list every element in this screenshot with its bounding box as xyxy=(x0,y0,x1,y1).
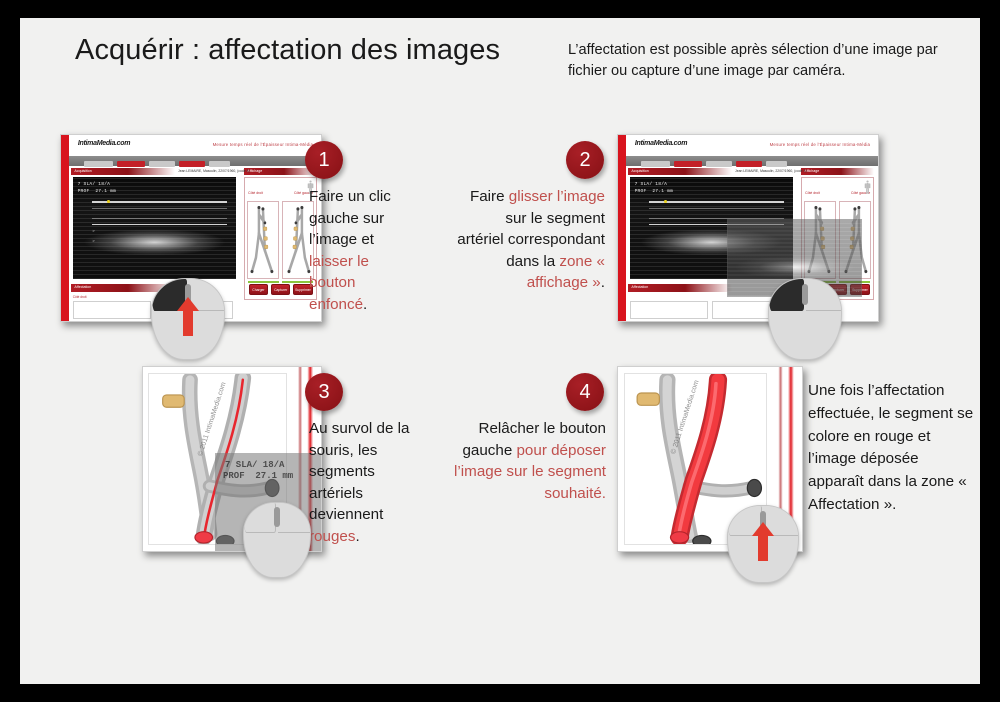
media-line xyxy=(649,208,783,209)
step1-part1: Faire un clic gauche sur l’image et xyxy=(309,188,391,248)
patient-info-label: Jean LEMAIRE, Masculin, 22/07/1960, (cod… xyxy=(178,169,250,173)
step-badge-3: 3 xyxy=(305,373,343,411)
mouse-right-button xyxy=(278,503,310,533)
step3-part2: . xyxy=(355,528,359,545)
page-title: Acquérir : affectation des images xyxy=(75,34,500,67)
panel-title-acquisition: Acquisition xyxy=(631,169,648,173)
panel-header-acquisition: Acquisition xyxy=(628,168,732,176)
mouse-icon-step4 xyxy=(727,505,799,583)
lumen-line xyxy=(92,224,226,225)
nav-item-patient[interactable] xyxy=(641,161,670,167)
step-badge-4: 4 xyxy=(566,373,604,411)
app-tagline: Mesure temps réel de l'Épaisseur Intima-… xyxy=(213,142,314,147)
nav-item-profil[interactable] xyxy=(209,161,230,167)
conclusion-text: Une fois l’affectation effectuée, le seg… xyxy=(808,380,974,517)
mouse-body xyxy=(243,502,311,578)
step-badge-1: 1 xyxy=(305,141,343,179)
mouse-right-button xyxy=(806,279,841,311)
caliper-marker-top: > xyxy=(92,228,94,233)
slide-frame: Acquérir : affectation des images L’affe… xyxy=(0,0,1000,702)
mouse-wheel xyxy=(274,507,279,526)
step2-highlight-1: glisser l’image xyxy=(509,188,605,205)
step-text-3: Au survol de la souris, les segments art… xyxy=(309,418,415,547)
mouse-wheel xyxy=(802,284,808,305)
media-line xyxy=(92,208,226,209)
nav-item-mesurer[interactable] xyxy=(149,161,175,167)
label-cote-droit: Côté droit xyxy=(805,191,820,195)
ultrasound-depth-text: PROF 27.1 mm xyxy=(78,189,116,196)
nav-item-acquerir[interactable] xyxy=(674,161,703,167)
affectation-label-droit: Côté droit xyxy=(73,295,87,299)
adventitia-line xyxy=(92,218,226,219)
app-tagline: Mesure temps réel de l'Épaisseur Intima-… xyxy=(770,142,871,147)
step3-highlight: rouges xyxy=(309,528,355,545)
app-logo: IntimaMedia.com xyxy=(78,140,130,147)
panel-header-affichage: Affichage xyxy=(801,168,874,176)
app-left-accent-bar xyxy=(61,135,69,321)
nav-item-profil[interactable] xyxy=(766,161,787,167)
button-charger[interactable]: Charger xyxy=(249,284,268,295)
nav-item-mesurer[interactable] xyxy=(706,161,732,167)
slide-subtitle: L’affectation est possible après sélecti… xyxy=(568,40,968,82)
affichage-panel[interactable]: Côté droit Côté gauche xyxy=(244,177,317,300)
ultrasound-image[interactable]: 7 SLA/ 18/A PROF 27.1 mm > > xyxy=(73,177,237,279)
patient-info-label: Jean LEMAIRE, Masculin, 22/07/1960, (cod… xyxy=(735,169,807,173)
mouse-body xyxy=(768,278,842,360)
panel-title-affectation: Affectation xyxy=(631,285,648,289)
ultrasound-overlay-text: 7 SLA/ 18/A xyxy=(635,182,668,189)
affectation-slot-right[interactable] xyxy=(73,301,151,320)
step1-part2: . xyxy=(363,296,367,313)
mouse-icon-step2 xyxy=(768,278,842,360)
step1-highlight: laisser le bouton enfoncé xyxy=(309,253,369,313)
step3-part1: Au survol de la souris, les segments art… xyxy=(309,420,409,523)
overlay-text-line2: PROF 27.1 mm xyxy=(223,470,293,483)
body-manikin-icon xyxy=(864,180,871,194)
mouse-left-button xyxy=(244,503,276,533)
progress-bar-right xyxy=(248,281,279,283)
ultrasound-depth-text: PROF 27.1 mm xyxy=(635,189,673,196)
panel-title-affectation: Affectation xyxy=(74,285,91,289)
step2-part3: . xyxy=(601,274,605,291)
mouse-left-button-pressed xyxy=(769,279,804,311)
panel-title-acquisition: Acquisition xyxy=(74,169,91,173)
caliper-marker-bottom: > xyxy=(92,238,94,243)
button-capturer[interactable]: Capturer xyxy=(271,284,290,295)
step2-part1: Faire xyxy=(470,188,509,205)
step-text-1: Faire un clic gauche sur l’image et lais… xyxy=(309,186,413,315)
step-text-4: Relâcher le bouton gauche pour déposer l… xyxy=(450,418,606,504)
ultrasound-overlay-text: 7 SLA/ 18/A xyxy=(78,182,111,189)
affectation-slot-right[interactable] xyxy=(630,301,708,320)
panel-header-acquisition: Acquisition xyxy=(71,168,175,176)
arterial-tree-right[interactable] xyxy=(247,201,279,279)
step-text-2: Faire glisser l’image sur le segment art… xyxy=(457,186,605,294)
plaque-marker xyxy=(163,394,185,406)
nav-item-rapport[interactable] xyxy=(179,161,205,167)
intima-line xyxy=(92,201,226,202)
step-badge-2: 2 xyxy=(566,141,604,179)
nav-item-acquerir[interactable] xyxy=(117,161,146,167)
app-left-accent-bar xyxy=(618,135,626,321)
slide-canvas: Acquérir : affectation des images L’affe… xyxy=(20,18,980,684)
mouse-icon-step1 xyxy=(151,278,225,360)
panel-header-affectation: Affectation xyxy=(628,284,732,292)
intima-line xyxy=(649,201,783,202)
mouse-icon-step3 xyxy=(243,502,311,578)
label-cote-droit: Côté droit xyxy=(248,191,263,195)
marker-dot xyxy=(664,200,667,203)
nav-item-rapport[interactable] xyxy=(736,161,762,167)
nav-item-patient[interactable] xyxy=(84,161,113,167)
app-logo: IntimaMedia.com xyxy=(635,140,687,147)
marker-dot xyxy=(107,200,110,203)
plaque-marker xyxy=(637,393,659,405)
